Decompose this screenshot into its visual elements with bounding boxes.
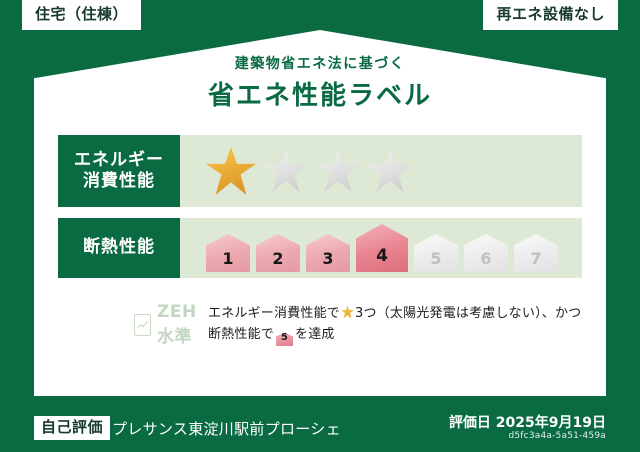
zeh-section: ZEH水準 エネルギー消費性能で3つ（太陽光発電は考慮しない）、かつ断熱性能で5… bbox=[58, 302, 582, 347]
insulation-level-1: 1 bbox=[206, 234, 250, 272]
evaluation-hash: d5fc3a4a-5a51-459a bbox=[508, 431, 606, 441]
line-chart-icon bbox=[134, 314, 151, 336]
zeh-mark: ZEH水準 bbox=[58, 302, 208, 347]
label-card-content: 建築物省エネ法に基づく 省エネ性能ラベル エネルギー 消費性能 断熱性能 1 2 bbox=[34, 30, 606, 396]
insulation-level-list: 1 2 3 4 5 6 7 bbox=[206, 224, 564, 272]
insulation-level-5: 5 bbox=[414, 234, 458, 272]
self-assessment-badge: 自己評価 bbox=[34, 416, 110, 440]
insulation-level-badge-icon: 5 bbox=[276, 332, 293, 346]
insulation-level-2: 2 bbox=[256, 234, 300, 272]
zeh-desc-part3: を達成 bbox=[295, 327, 335, 342]
zeh-label: ZEH水準 bbox=[157, 302, 208, 347]
energy-star-rating bbox=[180, 135, 582, 207]
star-empty-3 bbox=[316, 150, 360, 192]
star-filled-1 bbox=[206, 147, 256, 195]
energy-performance-label: 住宅（住棟） 再エネ設備なし 建築物省エネ法に基づく 省エネ性能ラベル エネルギ… bbox=[0, 0, 640, 452]
star-empty-2 bbox=[264, 150, 308, 192]
insulation-level-6: 6 bbox=[464, 234, 508, 272]
building-name: プレサンス東淀川駅前プローシェ bbox=[112, 418, 341, 439]
building-type-badge: 住宅（住棟） bbox=[22, 0, 141, 30]
insulation-label-text: 断熱性能 bbox=[83, 237, 155, 258]
energy-label-line1: エネルギー bbox=[74, 150, 164, 171]
energy-consumption-label: エネルギー 消費性能 bbox=[58, 135, 180, 207]
insulation-scale: 1 2 3 4 5 6 7 bbox=[180, 218, 582, 278]
insulation-performance-label: 断熱性能 bbox=[58, 218, 180, 278]
label-subtitle: 建築物省エネ法に基づく bbox=[34, 53, 606, 73]
zeh-description: エネルギー消費性能で3つ（太陽光発電は考慮しない）、かつ断熱性能で5を達成 bbox=[208, 303, 582, 347]
label-footer: 自己評価 プレサンス東淀川駅前プローシェ 評価日 2025年9月19日 d5fc… bbox=[0, 404, 640, 452]
energy-label-line2: 消費性能 bbox=[83, 171, 155, 192]
insulation-level-4: 4 bbox=[356, 224, 408, 272]
zeh-desc-part1: エネルギー消費性能で bbox=[208, 306, 340, 321]
renewable-equipment-badge: 再エネ設備なし bbox=[483, 0, 618, 30]
insulation-level-7: 7 bbox=[514, 234, 558, 272]
page-title: 省エネ性能ラベル bbox=[34, 75, 606, 112]
insulation-performance-row: 断熱性能 1 2 3 4 5 6 7 bbox=[58, 218, 582, 278]
star-icon bbox=[341, 306, 354, 319]
insulation-level-3: 3 bbox=[306, 234, 350, 272]
star-empty-4 bbox=[368, 150, 412, 192]
evaluation-date: 評価日 2025年9月19日 bbox=[449, 412, 606, 432]
energy-consumption-row: エネルギー 消費性能 bbox=[58, 135, 582, 207]
